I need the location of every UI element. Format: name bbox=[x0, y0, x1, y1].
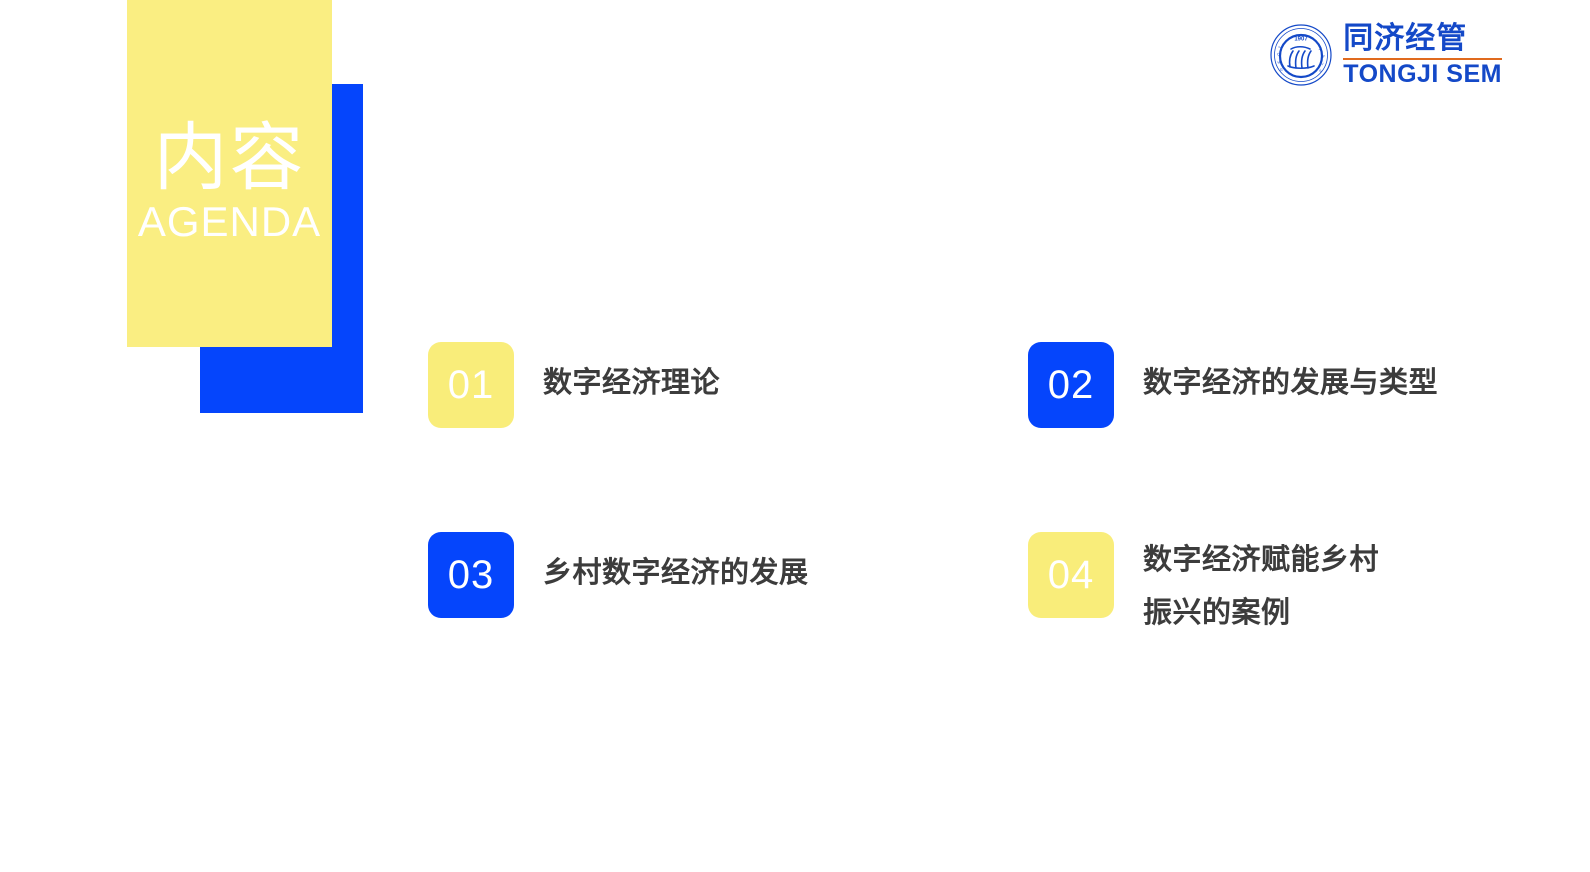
agenda-number-01: 01 bbox=[448, 365, 495, 405]
agenda-number-04: 04 bbox=[1048, 555, 1095, 595]
agenda-number-02: 02 bbox=[1048, 365, 1095, 405]
agenda-item-02[interactable]: 02 数字经济的发展与类型 bbox=[1028, 342, 1438, 428]
agenda-item-list: 01 数字经济理论 02 数字经济的发展与类型 03 乡村数字经济的发展 04 … bbox=[0, 0, 1590, 872]
agenda-label-03: 乡村数字经济的发展 bbox=[543, 532, 809, 600]
agenda-badge-01: 01 bbox=[428, 342, 514, 428]
agenda-item-01[interactable]: 01 数字经济理论 bbox=[428, 342, 720, 428]
agenda-item-03[interactable]: 03 乡村数字经济的发展 bbox=[428, 532, 809, 618]
agenda-item-04[interactable]: 04 数字经济赋能乡村 振兴的案例 bbox=[1028, 532, 1379, 640]
agenda-label-04: 数字经济赋能乡村 振兴的案例 bbox=[1143, 532, 1379, 640]
agenda-label-02: 数字经济的发展与类型 bbox=[1143, 342, 1438, 410]
agenda-number-03: 03 bbox=[448, 555, 495, 595]
agenda-slide: 内容 AGENDA 1907 T O N G Y T bbox=[0, 0, 1590, 872]
agenda-badge-03: 03 bbox=[428, 532, 514, 618]
agenda-badge-02: 02 bbox=[1028, 342, 1114, 428]
agenda-badge-04: 04 bbox=[1028, 532, 1114, 618]
agenda-label-01: 数字经济理论 bbox=[543, 342, 720, 410]
